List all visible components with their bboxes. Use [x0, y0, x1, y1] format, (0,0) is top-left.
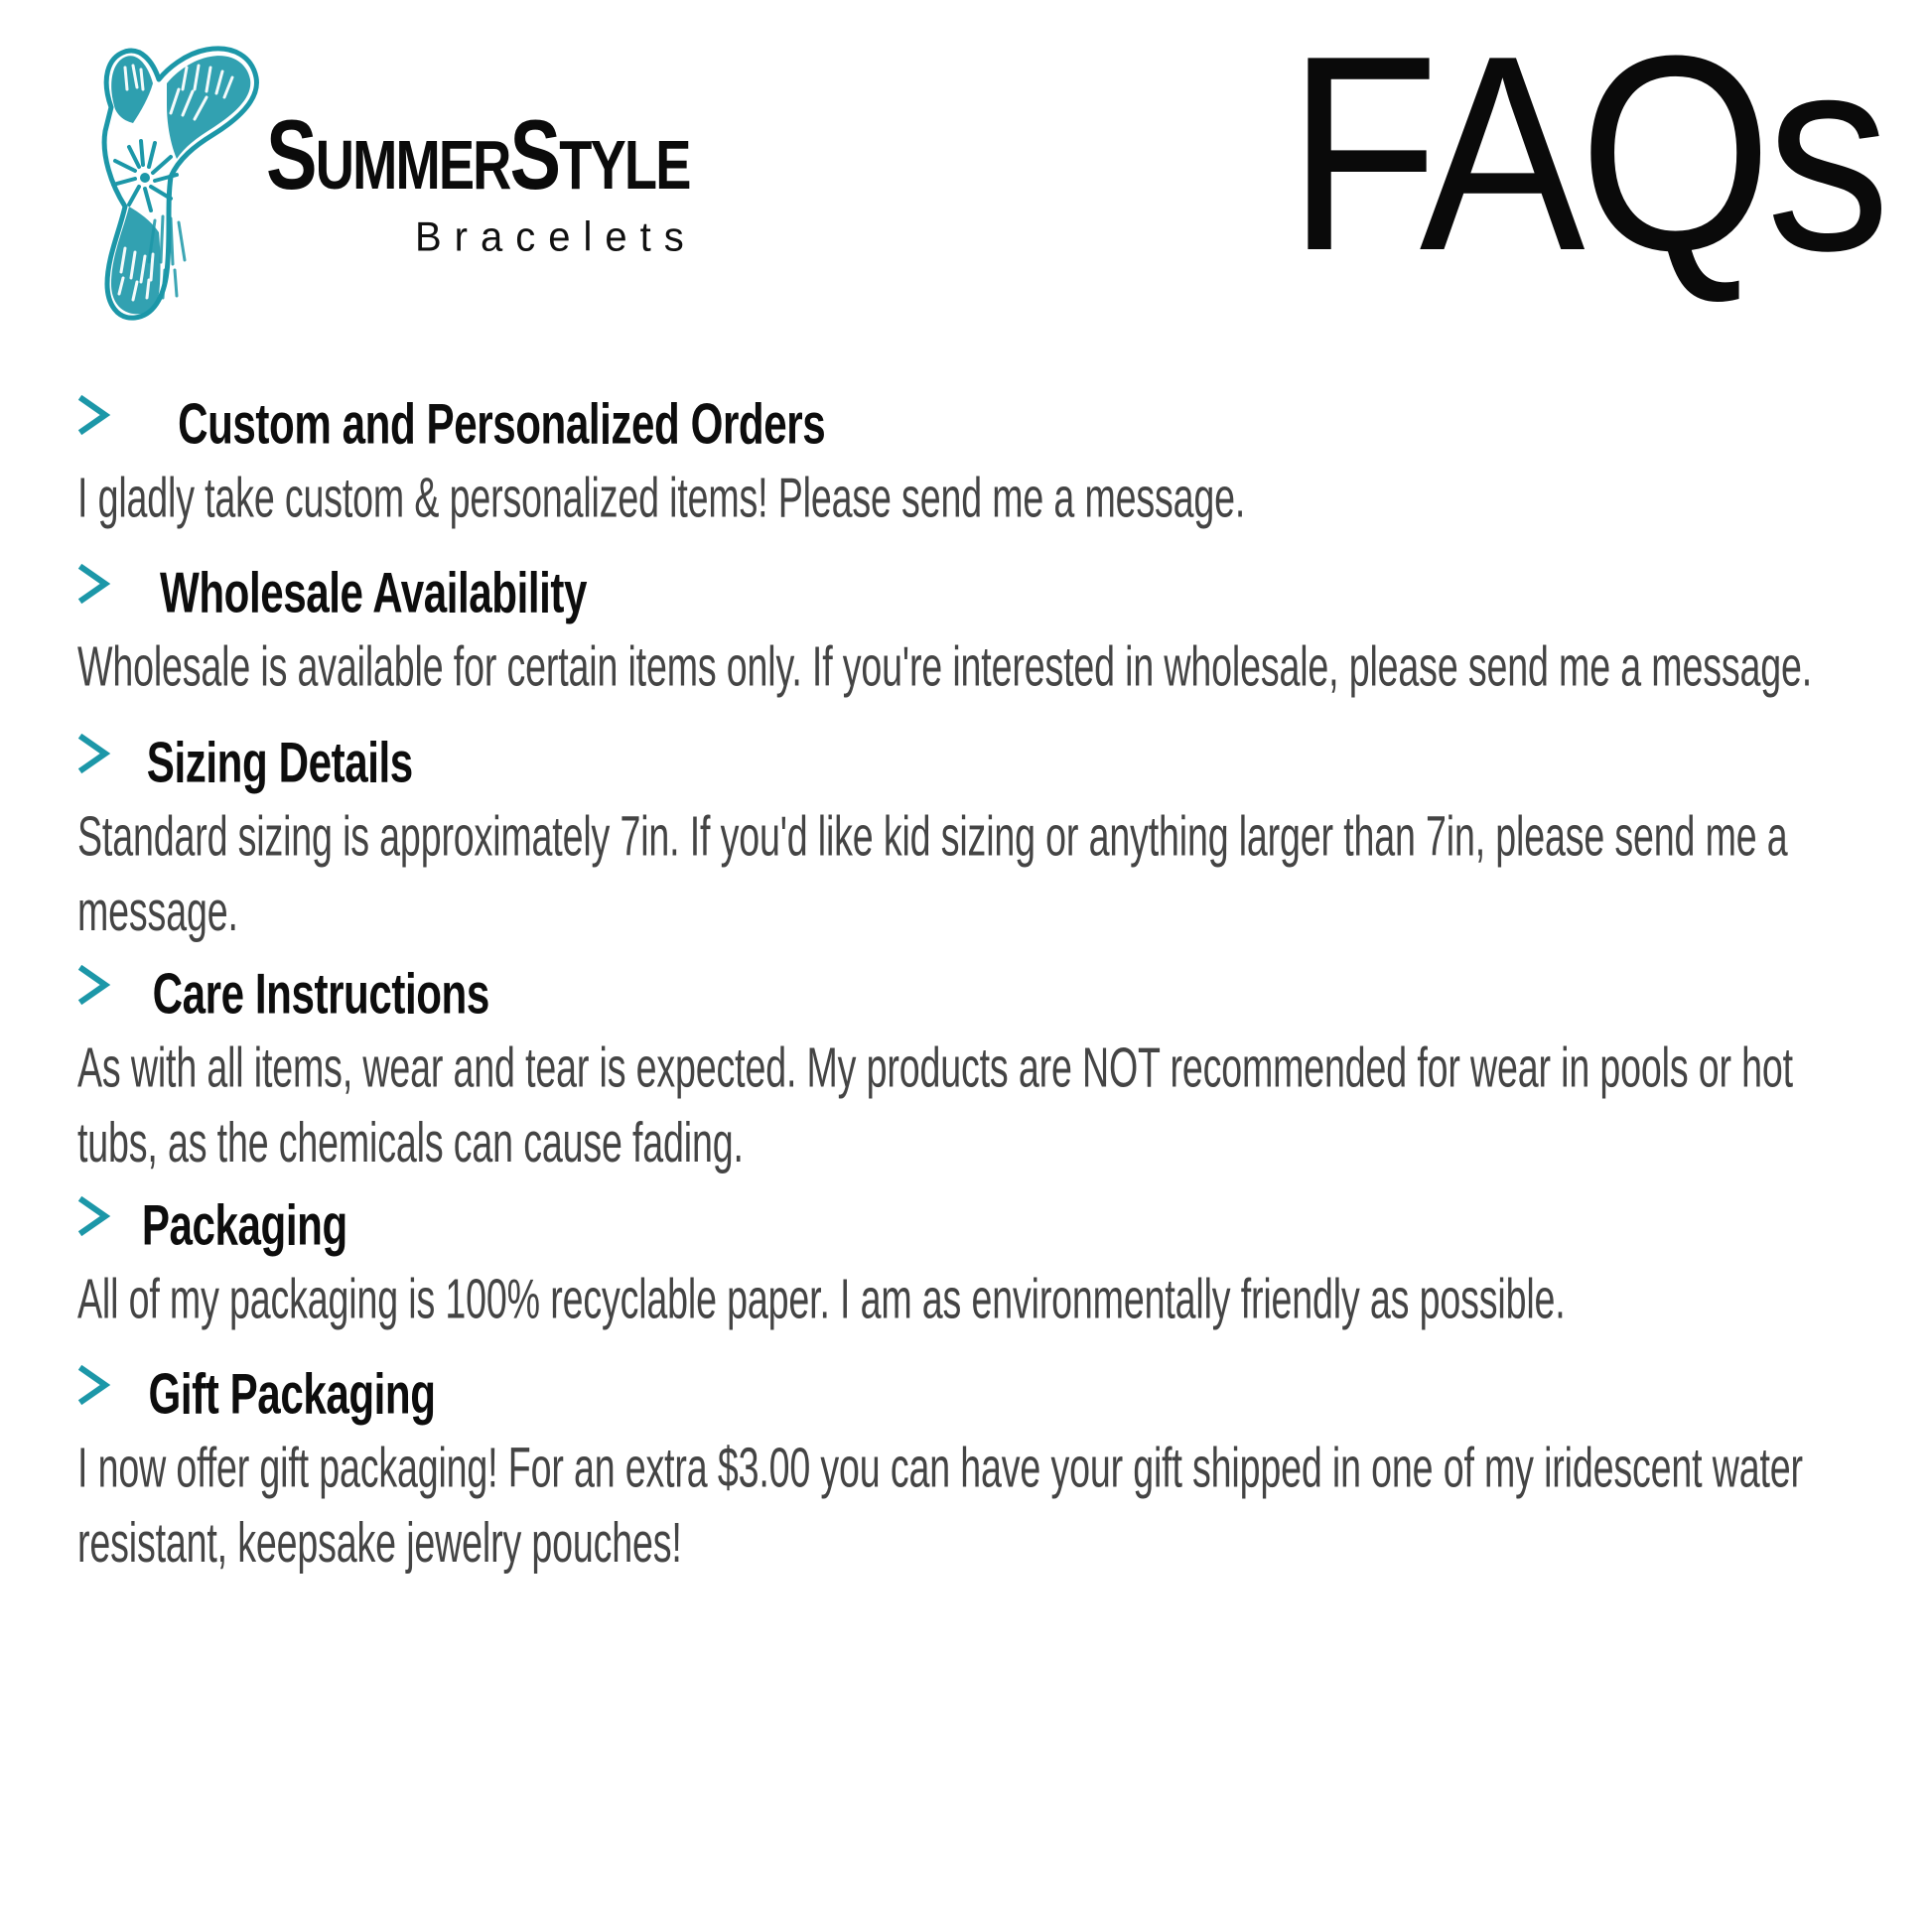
faq-body-text: Standard sizing is approximately 7in. If… — [77, 799, 1864, 948]
faq-body-text: All of my packaging is 100% recyclable p… — [77, 1262, 1864, 1336]
faq-heading-text: Gift Packaging — [149, 1367, 436, 1426]
page-title: FAQs — [1288, 36, 1884, 272]
faq-item: Packaging All of my packaging is 100% re… — [77, 1198, 1864, 1323]
faq-item: Custom and Personalized Orders I gladly … — [77, 397, 1864, 522]
faq-heading-row[interactable]: Custom and Personalized Orders — [77, 397, 1864, 451]
brand-name: SummerStyle — [266, 110, 690, 201]
faq-heading-row[interactable]: Sizing Details — [77, 736, 1864, 789]
faq-heading-row[interactable]: Wholesale Availability — [77, 566, 1864, 620]
faq-item: Care Instructions As with all items, wea… — [77, 967, 1864, 1155]
brand-subtitle: Bracelets — [415, 214, 727, 261]
faq-item: Wholesale Availability Wholesale is avai… — [77, 566, 1864, 691]
faq-heading-text: Packaging — [142, 1197, 347, 1256]
faq-heading-text: Wholesale Availability — [160, 566, 587, 624]
starfish-icon — [68, 28, 278, 326]
faq-item: Gift Packaging I now offer gift packagin… — [77, 1367, 1864, 1555]
page-header: SummerStyle Bracelets FAQs — [0, 0, 1932, 328]
faq-list: Custom and Personalized Orders I gladly … — [77, 397, 1864, 1598]
chevron-right-icon — [77, 562, 111, 606]
faq-heading-text: Custom and Personalized Orders — [178, 397, 825, 456]
brand-lockup: SummerStyle Bracelets — [68, 22, 727, 326]
brand-wordmark: SummerStyle Bracelets — [266, 117, 727, 260]
faq-heading-row[interactable]: Gift Packaging — [77, 1367, 1864, 1421]
faq-body-text: I gladly take custom & personalized item… — [77, 461, 1864, 535]
faq-body-text: As with all items, wear and tear is expe… — [77, 1031, 1864, 1179]
faq-body-text: Wholesale is available for certain items… — [77, 629, 1864, 704]
faq-heading-text: Care Instructions — [153, 966, 489, 1025]
chevron-right-icon — [77, 1194, 111, 1238]
chevron-right-icon — [77, 1363, 111, 1407]
faq-body-text: I now offer gift packaging! For an extra… — [77, 1431, 1864, 1580]
chevron-right-icon — [77, 963, 111, 1007]
faq-item: Sizing Details Standard sizing is approx… — [77, 736, 1864, 923]
chevron-right-icon — [77, 393, 111, 437]
faq-heading-row[interactable]: Care Instructions — [77, 967, 1864, 1021]
chevron-right-icon — [77, 732, 111, 775]
faq-heading-text: Sizing Details — [147, 735, 413, 793]
faq-heading-row[interactable]: Packaging — [77, 1198, 1864, 1252]
